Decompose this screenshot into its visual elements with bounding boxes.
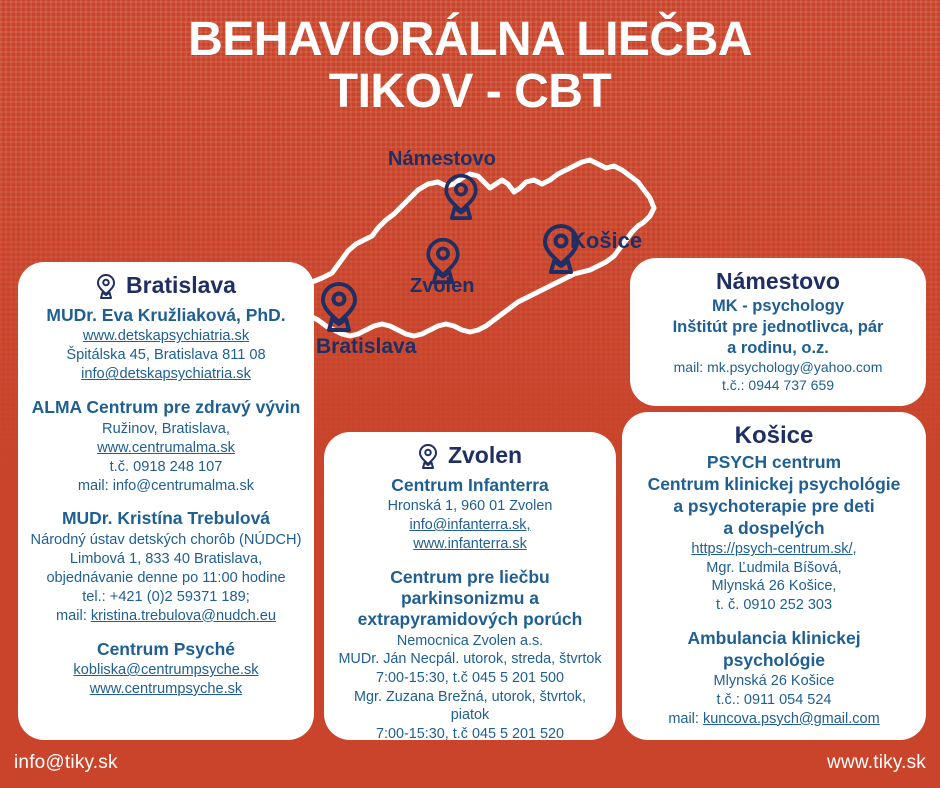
map-pin-icon	[96, 273, 116, 299]
org-name: MUDr. Eva Kružliaková, PhD.	[30, 305, 302, 326]
org-name: Centrum pre liečbu parkinsonizmu a extra…	[336, 567, 604, 631]
card-heading-label: Košice	[735, 422, 814, 450]
org-website[interactable]: www.centrumpsyche.sk	[30, 680, 302, 699]
org-name: ALMA Centrum pre zdravý vývin	[30, 397, 302, 418]
org-hours-phone: 7:00-15:30, t.č 045 5 201 500	[336, 669, 604, 688]
org-email[interactable]: info@detskapsychiatria.sk	[30, 365, 302, 384]
org-phone: t.č.: 0911 054 524	[634, 691, 914, 710]
card-heading-zvolen: Zvolen	[336, 442, 604, 469]
card-heading-label: Bratislava	[126, 272, 236, 299]
footer-email[interactable]: info@tiky.sk	[14, 752, 118, 774]
org-list: MUDr. Eva Kružliaková, PhD. www.detskaps…	[30, 305, 302, 699]
org-block: Ambulancia klinickej psychológie Mlynská…	[634, 627, 914, 728]
org-block: MUDr. Eva Kružliaková, PhD. www.detskaps…	[30, 305, 302, 384]
city-card-bratislava: Bratislava MUDr. Eva Kružliaková, PhD. w…	[18, 262, 314, 740]
map-pin-icon-bratislava[interactable]	[318, 280, 360, 332]
org-email-prefix: mail:	[668, 711, 703, 727]
org-website[interactable]: https://psych-centrum.sk/,	[634, 540, 914, 559]
org-email: mail: info@centrumalma.sk	[30, 477, 302, 496]
org-block: MK - psychology Inštitút pre jednotlivca…	[642, 296, 914, 394]
org-email-link[interactable]: kuncova.psych@gmail.com	[703, 711, 880, 727]
org-address: Ružinov, Bratislava,	[30, 420, 302, 439]
org-email-prefix: mail:	[56, 608, 91, 624]
card-heading-bratislava: Bratislava	[30, 272, 302, 299]
org-block: PSYCH centrum Centrum klinickej psycholó…	[634, 451, 914, 614]
org-name: MUDr. Kristína Trebulová	[30, 508, 302, 529]
poster-canvas: BEHAVIORÁLNA LIEČBA TIKOV - CBT Námestov…	[0, 0, 940, 788]
page-title-line-2: TIKOV - CBT	[0, 66, 940, 118]
map-pin-icon-zvolen[interactable]	[424, 236, 462, 284]
org-list: Centrum Infanterra Hronská 1, 960 01 Zvo…	[336, 475, 604, 740]
org-name: Centrum Infanterra	[336, 475, 604, 496]
org-website[interactable]: www.detskapsychiatria.sk	[30, 327, 302, 346]
map-label-namestovo: Námestovo	[388, 148, 496, 171]
org-staff: Mgr. Ľudmila Bíšová,	[634, 559, 914, 578]
card-heading-namestovo: Námestovo	[642, 268, 914, 295]
org-website[interactable]: www.centrumalma.sk	[30, 439, 302, 458]
org-block: Centrum Psyché kobliska@centrumpsyche.sk…	[30, 639, 302, 699]
org-phone: t.č.: 0944 737 659	[642, 377, 914, 394]
org-block: MUDr. Kristína Trebulová Národný ústav d…	[30, 508, 302, 625]
org-email: mail: kristina.trebulova@nudch.eu	[30, 607, 302, 626]
org-block: ALMA Centrum pre zdravý vývin Ružinov, B…	[30, 397, 302, 495]
city-card-namestovo: Námestovo MK - psychology Inštitút pre j…	[630, 258, 926, 406]
org-institution: Národný ústav detských chorôb (NÚDCH)	[30, 531, 302, 550]
org-address: Mlynská 26 Košice,	[634, 577, 914, 596]
org-address: Hronská 1, 960 01 Zvolen	[336, 497, 604, 516]
org-website[interactable]: www.infanterra.sk	[336, 535, 604, 554]
org-block: Centrum Infanterra Hronská 1, 960 01 Zvo…	[336, 475, 604, 554]
org-institution: Nemocnica Zvolen a.s.	[336, 632, 604, 651]
org-hours-phone: 7:00-15:30, t.č 045 5 201 520	[336, 725, 604, 740]
org-list: MK - psychology Inštitút pre jednotlivca…	[642, 296, 914, 394]
org-hours: objednávanie denne po 11:00 hodine	[30, 569, 302, 588]
page-title-line-1: BEHAVIORÁLNA LIEČBA	[188, 13, 752, 66]
map-pin-icon-kosice[interactable]	[540, 222, 582, 274]
map-label-bratislava: Bratislava	[316, 335, 416, 359]
org-email: mail: kuncova.psych@gmail.com	[634, 710, 914, 729]
card-heading-label: Zvolen	[448, 442, 522, 469]
org-name: MK - psychology Inštitút pre jednotlivca…	[642, 296, 914, 358]
org-address: Špitálska 45, Bratislava 811 08	[30, 346, 302, 365]
org-email[interactable]: kobliska@centrumpsyche.sk	[30, 661, 302, 680]
card-heading-kosice: Košice	[634, 422, 914, 450]
org-name: PSYCH centrum Centrum klinickej psycholó…	[634, 451, 914, 539]
org-address: Limbová 1, 833 40 Bratislava,	[30, 550, 302, 569]
org-phone: t. č. 0910 252 303	[634, 596, 914, 615]
org-name: Ambulancia klinickej psychológie	[634, 627, 914, 671]
org-email[interactable]: info@infanterra.sk,	[336, 516, 604, 535]
city-card-kosice: Košice PSYCH centrum Centrum klinickej p…	[622, 412, 926, 740]
org-staff-schedule: Mgr. Zuzana Brežná, utorok, štvrtok, pia…	[336, 688, 604, 725]
org-name: Centrum Psyché	[30, 639, 302, 660]
card-heading-label: Námestovo	[716, 268, 840, 295]
org-list: PSYCH centrum Centrum klinickej psycholó…	[634, 451, 914, 728]
org-staff-schedule: MUDr. Ján Necpál. utorok, streda, štvrto…	[336, 650, 604, 669]
org-phone: tel.: +421 (0)2 59371 189;	[30, 588, 302, 607]
map-pin-icon-namestovo[interactable]	[442, 172, 480, 220]
map-pin-icon	[418, 443, 438, 469]
footer-website[interactable]: www.tiky.sk	[827, 752, 926, 774]
org-address: Mlynská 26 Košice	[634, 672, 914, 691]
page-title: BEHAVIORÁLNA LIEČBA TIKOV - CBT	[0, 14, 940, 118]
org-phone: t.č. 0918 248 107	[30, 458, 302, 477]
org-email: mail: mk.psychology@yahoo.com	[642, 359, 914, 376]
org-email-link[interactable]: kristina.trebulova@nudch.eu	[91, 608, 276, 624]
city-card-zvolen: Zvolen Centrum Infanterra Hronská 1, 960…	[324, 432, 616, 740]
org-block: Centrum pre liečbu parkinsonizmu a extra…	[336, 567, 604, 741]
